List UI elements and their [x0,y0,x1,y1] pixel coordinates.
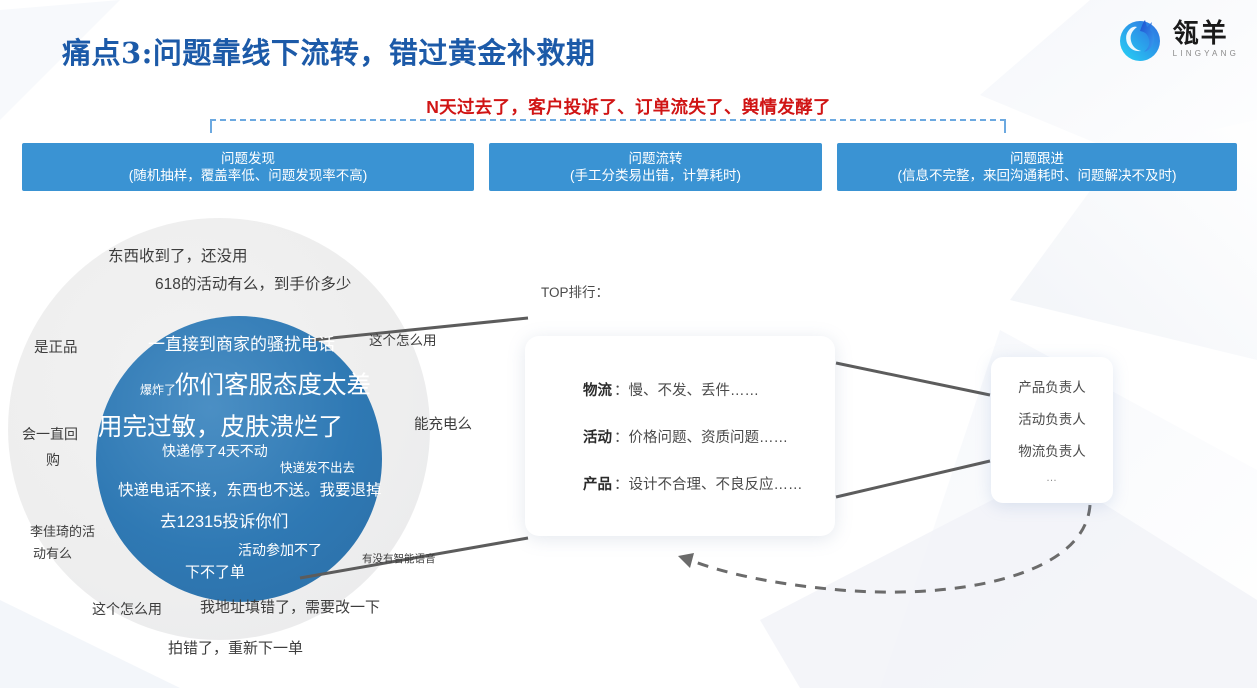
wordcloud-word-outer: 有没有智能语音 [362,551,436,566]
wordcloud-word-outer: 李佳琦的活 [30,521,95,540]
stage-bar-problem-routing[interactable]: 问题流转 (手工分类易出错，计算耗时) [489,143,822,191]
connector-toprank-to-owners-bottom [836,461,990,497]
top-rank-detail: ：价格问题、资质问题…… [614,430,788,446]
wordcloud-word-inner: 下不了单 [185,561,245,582]
top-rank-category: 产品 [583,477,612,493]
top-rank-row: 活动：价格问题、资质问题…… [583,426,835,447]
wordcloud-word-inner: 你们客服态度太差 [175,366,371,401]
top-rank-label: TOP排行： [541,281,609,301]
connector-toprank-to-owners-top [836,363,990,395]
top-rank-detail: ：慢、不发、丢件…… [614,383,759,399]
brand-name-en: LINGYANG [1173,50,1239,58]
top-rank-detail: ：设计不合理、不良反应…… [614,477,803,493]
wordcloud-word-inner: 快递电话不接，东西也不送。我要退掉 [118,478,382,500]
bracket-tick-left [210,119,212,133]
owner-item: 物流负责人 [1018,440,1086,460]
stage-subtitle: (信息不完整，来回沟通耗时、问题解决不及时) [898,167,1177,184]
wordcloud-word-inner: 一直接到商家的骚扰电话 [148,330,335,355]
wordcloud-word-outer: 会一直回 [22,424,78,444]
wordcloud-word-outer: 东西收到了，还没用 [108,244,248,266]
top-rank-card[interactable]: 物流：慢、不发、丢件…… 活动：价格问题、资质问题…… 产品：设计不合理、不良反… [525,336,835,536]
bracket-tick-right [1004,119,1006,133]
wordcloud-word-inner: 用完过敏，皮肤溃烂了 [98,408,343,443]
bracket-top-line [210,119,1006,121]
wordcloud-word-outer: 这个怎么用 [369,329,437,349]
stage-subtitle: (手工分类易出错，计算耗时) [570,167,741,184]
wordcloud-word-outer: 是正品 [34,336,78,357]
owners-card[interactable]: 产品负责人 活动负责人 物流负责人 … [991,357,1113,503]
wordcloud-word-outer: 拍错了，重新下一单 [168,637,303,658]
wordcloud-word-outer: 能充电么 [414,413,472,434]
wordcloud-word-outer: 动有么 [33,543,72,562]
wordcloud-word-inner: 爆炸了 [140,381,176,398]
wordcloud-word-inner: 快递发不出去 [280,457,355,476]
stage-title: 问题跟进 [1010,150,1064,167]
antelope-logo-icon [1115,14,1165,64]
red-headline: N天过去了，客户投诉了、订单流失了、舆情发酵了 [0,94,1257,119]
wordcloud-word-inner: 去12315投诉你们 [160,508,288,532]
top-rank-row: 产品：设计不合理、不良反应…… [583,473,835,494]
top-rank-category: 物流 [583,383,612,399]
wordcloud-word-inner: 快递停了4天不动 [162,441,268,461]
stage-title: 问题流转 [629,150,683,167]
wordcloud-word-outer: 618的活动有么，到手价多少 [155,272,351,294]
wordcloud-word-outer: 购 [46,450,60,470]
span-bracket [210,119,1006,135]
top-rank-row: 物流：慢、不发、丢件…… [583,379,835,400]
stage-bar-problem-followup[interactable]: 问题跟进 (信息不完整，来回沟通耗时、问题解决不及时) [837,143,1237,191]
brand-logo: 瓴羊 LINGYANG [1115,14,1239,64]
wordcloud-word-outer: 我地址填错了，需要改一下 [200,596,380,617]
feedback-loop-arrowhead [678,553,694,568]
stage-title: 问题发现 [221,150,275,167]
wordcloud-word-outer: 这个怎么用 [92,599,162,619]
owner-item: 活动负责人 [1018,408,1086,428]
owner-item: 产品负责人 [1018,376,1086,396]
stage-subtitle: (随机抽样，覆盖率低、问题发现率不高) [129,167,368,184]
stage-bar-problem-discovery[interactable]: 问题发现 (随机抽样，覆盖率低、问题发现率不高) [22,143,474,191]
owner-more-indicator: … [1046,472,1058,484]
top-rank-category: 活动 [583,430,612,446]
page-title: 痛点3:问题靠线下流转，错过黄金补救期 [62,30,595,72]
wordcloud-word-inner: 活动参加不了 [238,540,322,560]
brand-name-cn: 瓴羊 [1173,20,1229,46]
